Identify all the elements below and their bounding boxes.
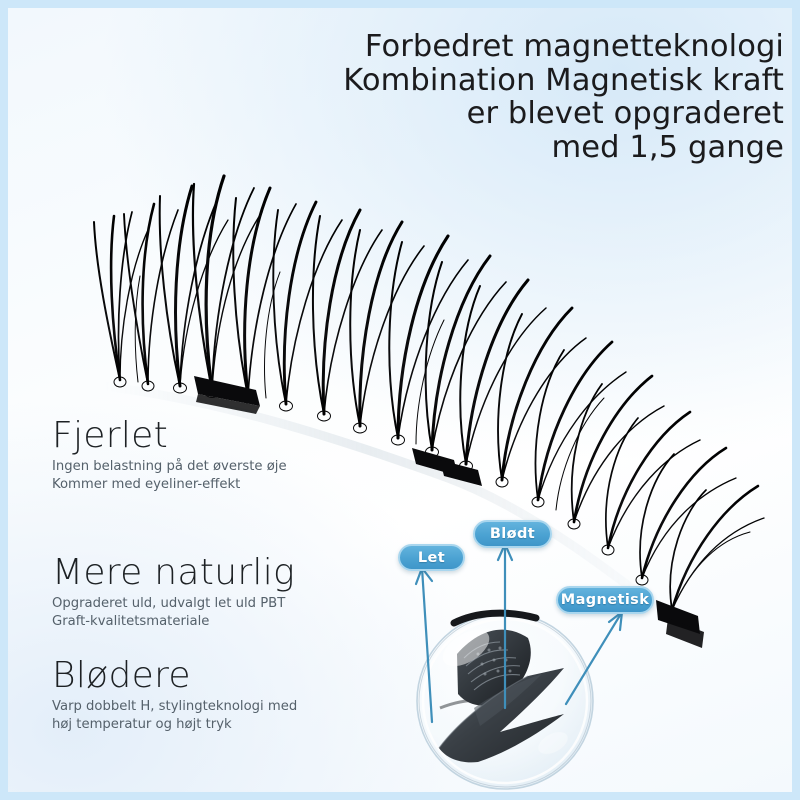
feature-block-mere-naturlig: Mere naturlig Opgraderet uld, udvalgt le…: [52, 553, 295, 630]
poster-panel: Forbedret magnetteknologi Kombination Ma…: [8, 8, 792, 792]
feature-block-fjerlet: Fjerlet Ingen belastning på det øverste …: [52, 416, 287, 493]
feature-title: Mere naturlig: [52, 553, 295, 593]
feature-title: Blødere: [52, 656, 297, 696]
callout-pill-blodt[interactable]: Blødt: [473, 520, 552, 548]
feature-block-blodere: Blødere Varp dobbelt H, stylingteknologi…: [52, 656, 297, 733]
page-title: Forbedret magnetteknologi Kombination Ma…: [208, 30, 784, 164]
callout-pill-magnetisk[interactable]: Magnetisk: [556, 586, 654, 614]
callout-pill-let[interactable]: Let: [398, 544, 465, 571]
feature-subtitle: Ingen belastning på det øverste øje Komm…: [52, 458, 287, 493]
product-poster: Forbedret magnetteknologi Kombination Ma…: [0, 0, 800, 800]
feature-title: Fjerlet: [52, 416, 287, 456]
feature-subtitle: Varp dobbelt H, stylingteknologi med høj…: [52, 698, 297, 733]
feature-subtitle: Opgraderet uld, udvalgt let uld PBT Graf…: [52, 595, 295, 630]
